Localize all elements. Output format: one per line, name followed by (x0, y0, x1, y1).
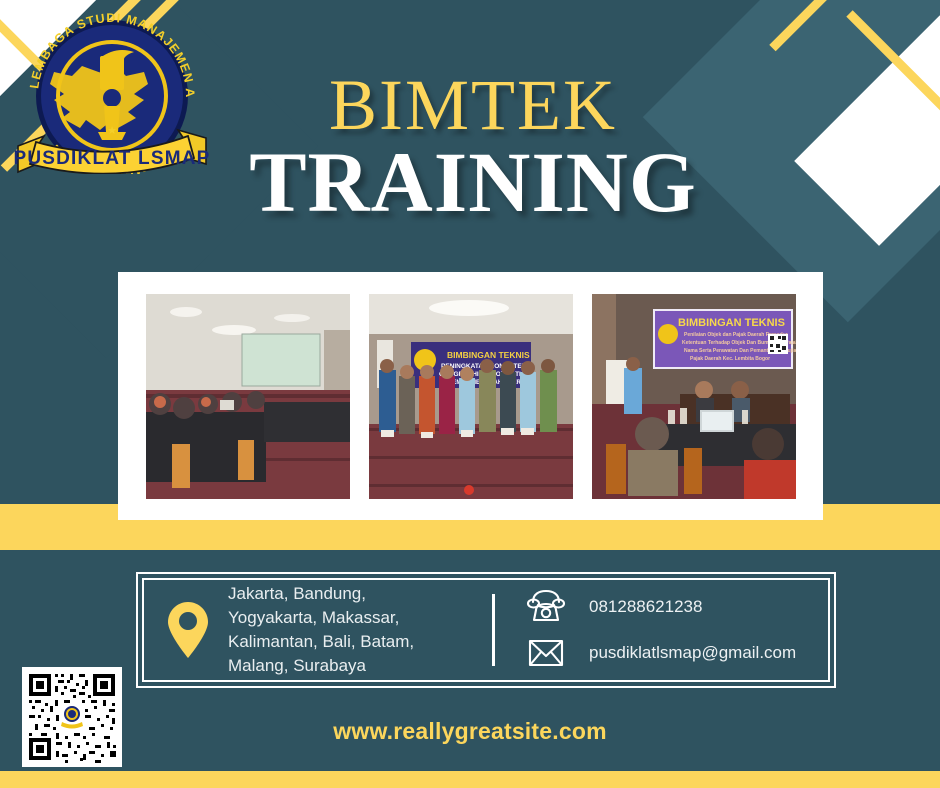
pusdiklat-lsmap-logo: LEMBAGA STUDI MANAJEMEN AKUNTANSI DAN PE… (8, 6, 216, 174)
contact-box: Jakarta, Bandung, Yogyakarta, Makassar, … (136, 572, 836, 688)
vertical-divider (492, 594, 495, 666)
location-list: Jakarta, Bandung, Yogyakarta, Makassar, … (228, 582, 414, 679)
map-pin-icon (166, 600, 210, 660)
email-row: pusdiklatlsmap@gmail.com (525, 635, 796, 671)
photo-group-participants: BIMBINGAN TEKNIS PENINGKATAN KOMPETENSI … (369, 294, 573, 499)
contact-details-group: 081288621238 pusdiklatlsma (525, 589, 796, 671)
location-group: Jakarta, Bandung, Yogyakarta, Makassar, … (144, 582, 484, 679)
title-block: BIMTEK TRAINING (228, 72, 718, 224)
poster-canvas: LEMBAGA STUDI MANAJEMEN AKUNTANSI DAN PE… (0, 0, 940, 788)
page-subtitle: TRAINING (228, 142, 718, 224)
telephone-icon (525, 589, 567, 625)
decor-yellow-line-4 (846, 10, 940, 168)
svg-text:Pajak Daerah Kec. Lembita Bogo: Pajak Daerah Kec. Lembita Bogor (690, 356, 770, 362)
photo3-banner-text: BIMBINGAN TEKNIS (678, 317, 785, 329)
decor-yellow-line-5 (769, 0, 881, 51)
photo2-banner-text: BIMBINGAN TEKNIS (447, 350, 530, 360)
website-url[interactable]: www.reallygreatsite.com (0, 718, 940, 745)
decor-white-wedge-top-right (794, 0, 940, 246)
envelope-icon (525, 635, 567, 671)
page-title: BIMTEK (228, 72, 718, 138)
decor-bottom-strip (0, 771, 940, 788)
photo-training-room (146, 294, 350, 499)
qr-code[interactable] (22, 667, 122, 767)
photo-strip: BIMBINGAN TEKNIS PENINGKATAN KOMPETENSI … (118, 272, 823, 520)
svg-text:★: ★ (107, 125, 117, 137)
phone-row: 081288621238 (525, 589, 796, 625)
phone-number[interactable]: 081288621238 (589, 597, 702, 617)
svg-text:PUSDIKLAT LSMAP: PUSDIKLAT LSMAP (13, 148, 210, 169)
photo-meeting-room: BIMBINGAN TEKNIS Penilaian Objek dan Paj… (592, 294, 796, 499)
email-address[interactable]: pusdiklatlsmap@gmail.com (589, 643, 796, 663)
